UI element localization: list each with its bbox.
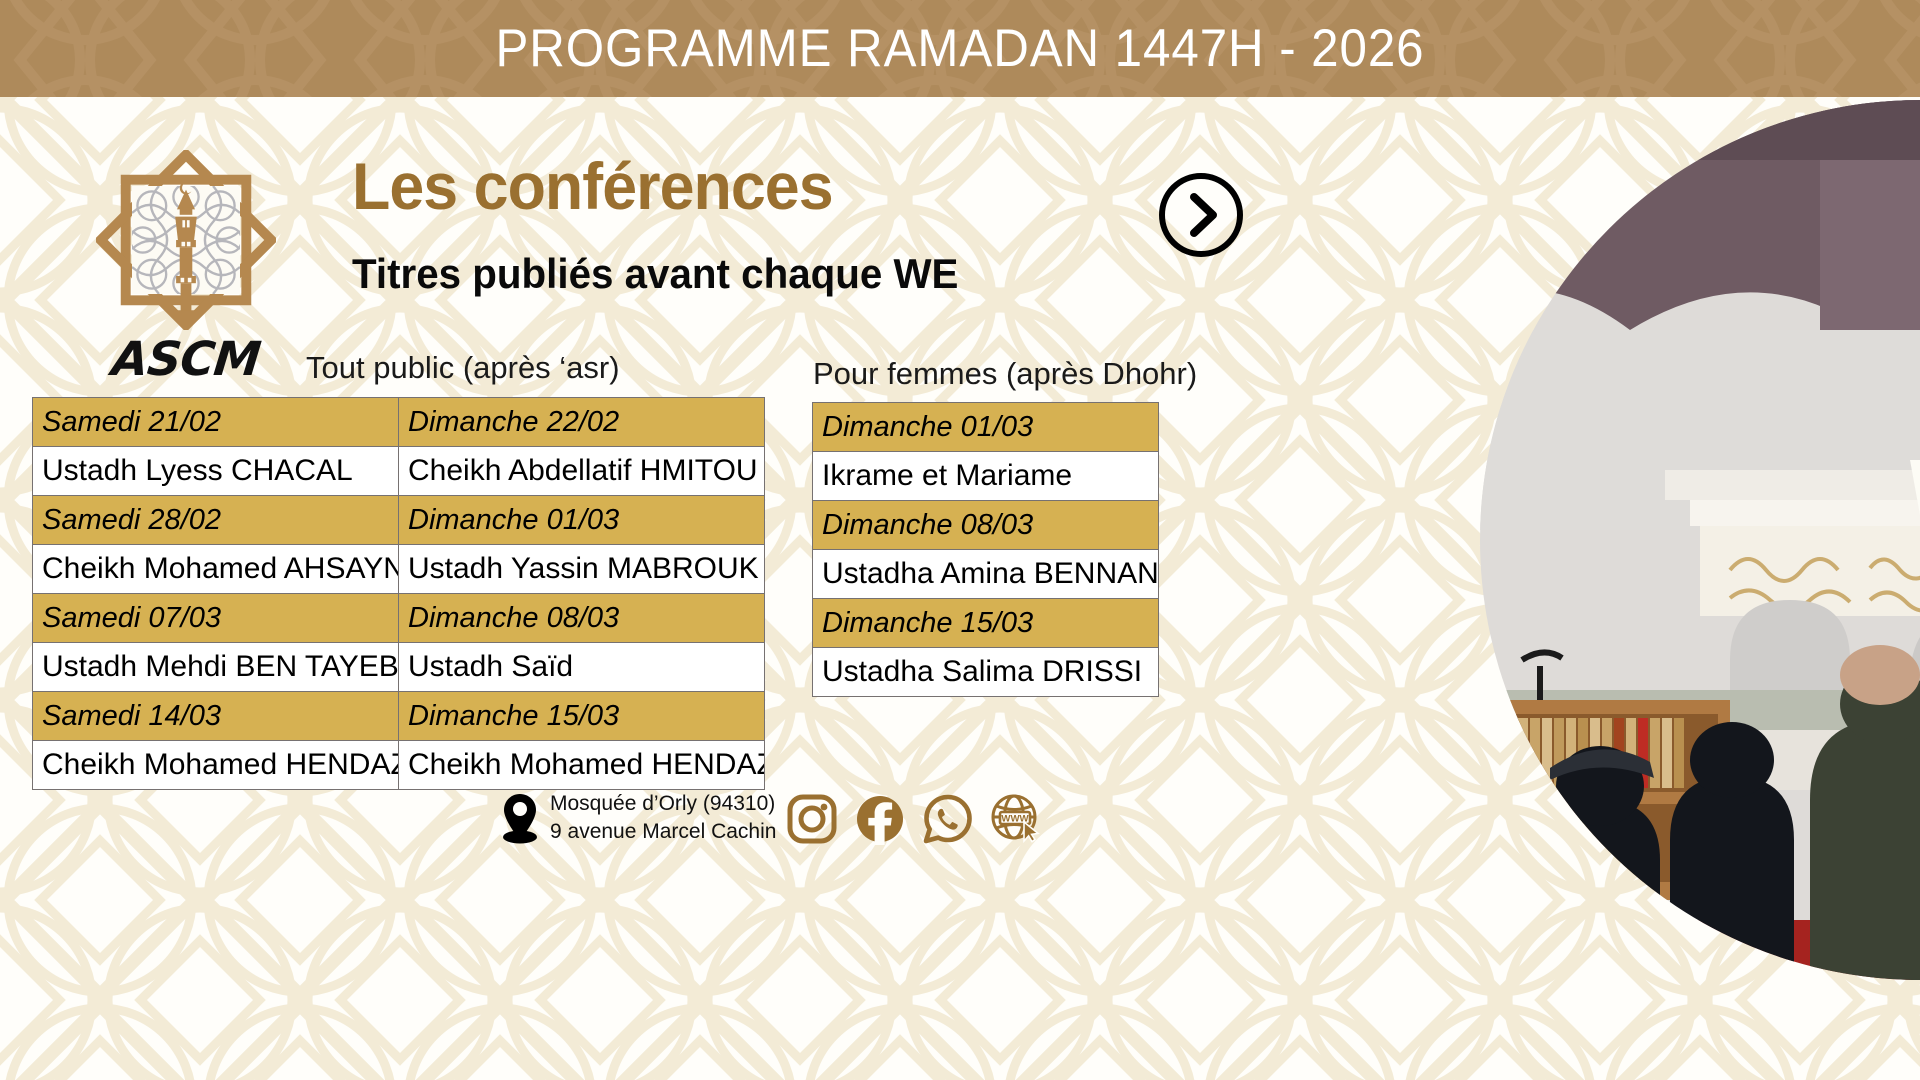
table-row: Dimanche 01/03 — [813, 403, 1159, 452]
table-row: Dimanche 08/03 — [813, 501, 1159, 550]
date-cell: Samedi 14/03 — [33, 692, 399, 741]
chevron-right-circle-icon[interactable] — [1156, 170, 1246, 260]
table-row: Ustadha Salima DRISSI — [813, 648, 1159, 697]
social-links-row: WWW — [786, 793, 1042, 845]
date-cell: Dimanche 08/03 — [813, 501, 1159, 550]
date-cell: Samedi 21/02 — [33, 398, 399, 447]
map-pin-icon — [500, 792, 540, 844]
speaker-cell: Ustadh Yassin MABROUK — [399, 545, 765, 594]
table-row: Samedi 07/03Dimanche 08/03 — [33, 594, 765, 643]
section-subtitle: Titres publiés avant chaque WE — [352, 250, 958, 298]
speaker-cell: Ustadha Amina BENNANI — [813, 550, 1159, 599]
address-line-2: 9 avenue Marcel Cachin — [550, 818, 776, 846]
location-block: Mosquée d’Orly (94310) 9 avenue Marcel C… — [500, 790, 776, 845]
table-row: Samedi 14/03Dimanche 15/03 — [33, 692, 765, 741]
date-cell: Samedi 28/02 — [33, 496, 399, 545]
table-row: Ikrame et Mariame — [813, 452, 1159, 501]
table-row: Cheikh Mohamed AHSAYNIUstadh Yassin MABR… — [33, 545, 765, 594]
header-band: PROGRAMME RAMADAN 1447H - 2026 — [0, 0, 1920, 97]
speaker-cell: Ikrame et Mariame — [813, 452, 1159, 501]
page-title: PROGRAMME RAMADAN 1447H - 2026 — [67, 0, 1853, 97]
speaker-cell: Ustadha Salima DRISSI — [813, 648, 1159, 697]
date-cell: Dimanche 08/03 — [399, 594, 765, 643]
table-row: Dimanche 15/03 — [813, 599, 1159, 648]
speaker-cell: Ustadh Mehdi BEN TAYEB — [33, 643, 399, 692]
facebook-icon[interactable] — [854, 793, 906, 845]
address-line-1: Mosquée d’Orly (94310) — [550, 790, 776, 818]
brand-logo-text: ASCM — [93, 332, 279, 387]
speaker-cell: Cheikh Abdellatif HMITOU — [399, 447, 765, 496]
date-cell: Dimanche 15/03 — [399, 692, 765, 741]
schedule-table-tout-public: Samedi 21/02Dimanche 22/02Ustadh Lyess C… — [32, 397, 765, 790]
speaker-cell: Cheikh Mohamed AHSAYNI — [33, 545, 399, 594]
caption-tout-public: Tout public (après ‘asr) — [306, 350, 620, 386]
speaker-cell: Cheikh Mohamed HENDAZ — [33, 741, 399, 790]
date-cell: Dimanche 22/02 — [399, 398, 765, 447]
website-www-globe-icon[interactable]: WWW — [990, 793, 1042, 845]
instagram-icon[interactable] — [786, 793, 838, 845]
mosque-minaret-star-logo — [96, 150, 276, 330]
schedule-table-pour-femmes: Dimanche 01/03Ikrame et MariameDimanche … — [812, 402, 1159, 697]
table-left-body: Samedi 21/02Dimanche 22/02Ustadh Lyess C… — [33, 398, 765, 790]
date-cell: Dimanche 15/03 — [813, 599, 1159, 648]
date-cell: Dimanche 01/03 — [399, 496, 765, 545]
caption-pour-femmes: Pour femmes (après Dhohr) — [813, 356, 1197, 392]
whatsapp-icon[interactable] — [922, 793, 974, 845]
date-cell: Samedi 07/03 — [33, 594, 399, 643]
table-row: Ustadha Amina BENNANI — [813, 550, 1159, 599]
table-row: Cheikh Mohamed HENDAZCheikh Mohamed HEND… — [33, 741, 765, 790]
mosque-photo — [1480, 100, 1920, 980]
speaker-cell: Ustadh Saïd — [399, 643, 765, 692]
section-title-conferences: Les conférences — [352, 148, 833, 224]
date-cell: Dimanche 01/03 — [813, 403, 1159, 452]
table-right-body: Dimanche 01/03Ikrame et MariameDimanche … — [813, 403, 1159, 697]
mosque-photo-illustration — [1480, 100, 1920, 980]
speaker-cell: Ustadh Lyess CHACAL — [33, 447, 399, 496]
table-row: Ustadh Mehdi BEN TAYEBUstadh Saïd — [33, 643, 765, 692]
table-row: Samedi 28/02Dimanche 01/03 — [33, 496, 765, 545]
speaker-cell: Cheikh Mohamed HENDAZ — [399, 741, 765, 790]
table-row: Ustadh Lyess CHACALCheikh Abdellatif HMI… — [33, 447, 765, 496]
brand-logo: ASCM — [96, 150, 276, 387]
table-row: Samedi 21/02Dimanche 22/02 — [33, 398, 765, 447]
